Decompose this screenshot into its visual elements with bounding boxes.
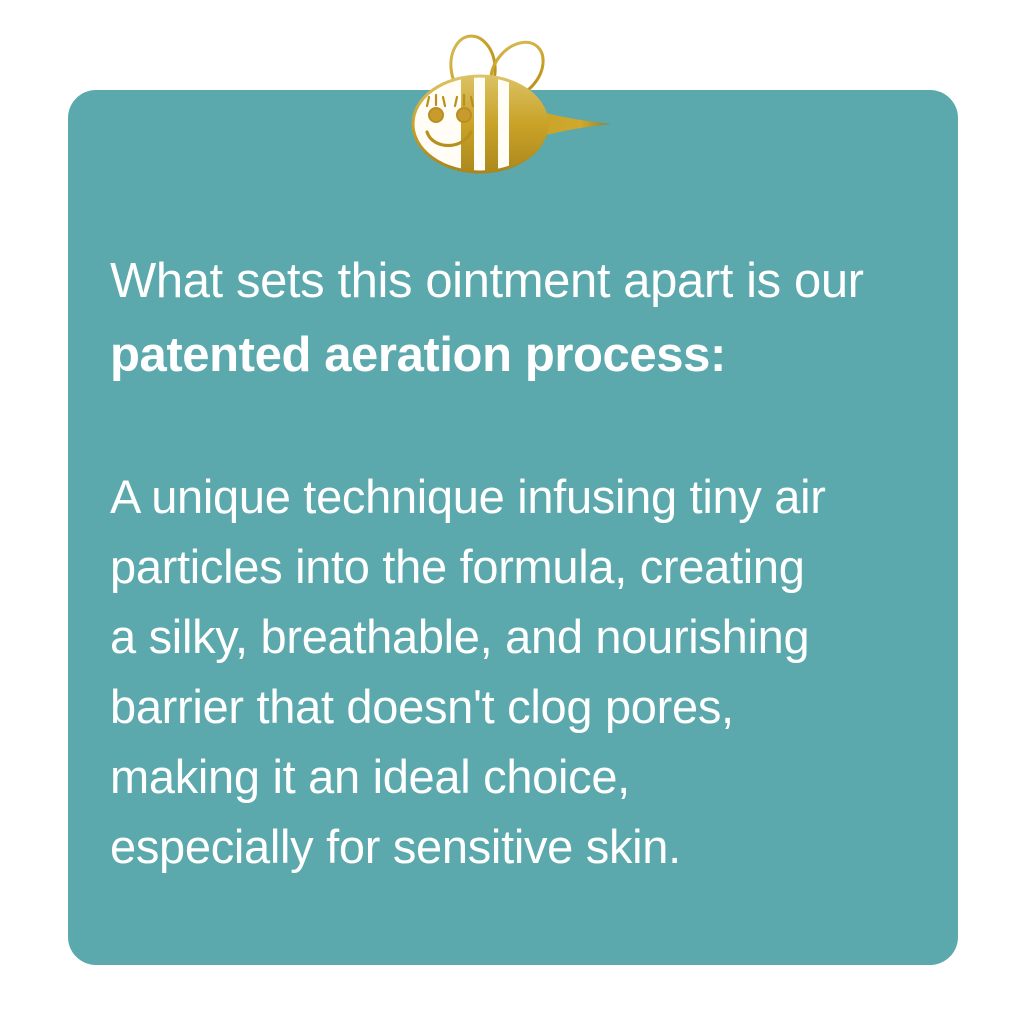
body-line-2: particles into the formula, creating <box>110 532 930 602</box>
promo-graphic: What sets this ointment apart is our pat… <box>0 0 1024 1024</box>
headline-lead: What sets this ointment apart is our <box>110 254 864 308</box>
body-line-5: making it an ideal choice, <box>110 742 930 812</box>
body-line-6: especially for sensitive skin. <box>110 812 930 882</box>
body-line-4: barrier that doesn't clog pores, <box>110 672 930 742</box>
marketing-copy: What sets this ointment apart is our pat… <box>110 244 930 882</box>
body-line-3: a silky, breathable, and nourishing <box>110 602 930 672</box>
body-line-1: A unique technique infusing tiny air <box>110 462 930 532</box>
headline-emphasis: patented aeration process <box>110 328 710 382</box>
headline: What sets this ointment apart is our pat… <box>110 244 930 392</box>
headline-colon: : <box>710 328 726 382</box>
body-paragraph: A unique technique infusing tiny air par… <box>110 392 930 882</box>
